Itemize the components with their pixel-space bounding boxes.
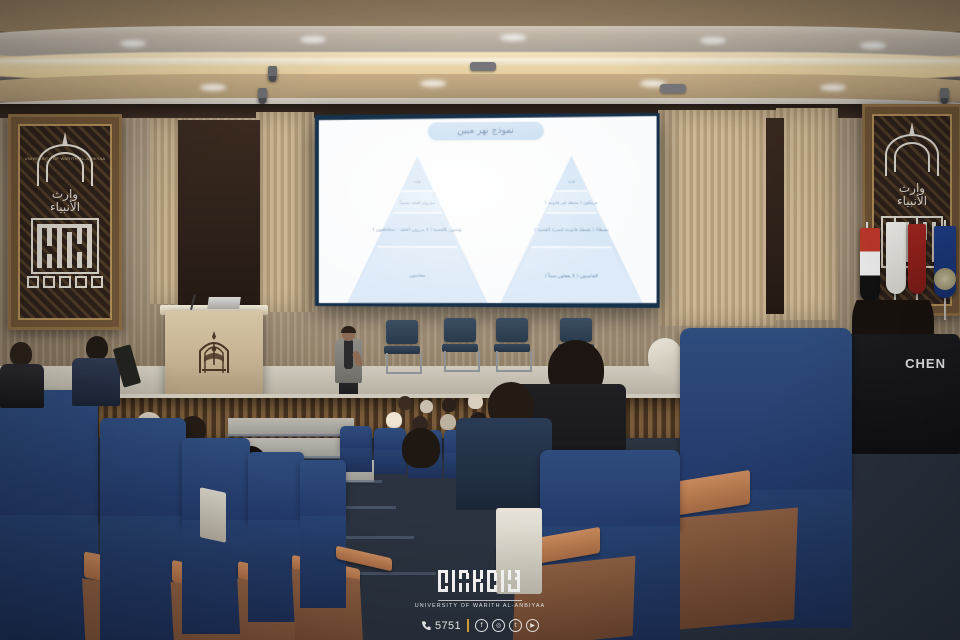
ceiling-camera (258, 88, 267, 102)
audience-head (440, 414, 456, 430)
facebook-icon[interactable]: f (475, 619, 488, 632)
watermark-organization: UNIVERSITY OF WARITH AL-ANBIYAA (415, 603, 545, 609)
slide-title: نموذج نهر مبين (427, 122, 544, 141)
wall-wood-panel-far-right (776, 108, 838, 320)
white-flag (886, 222, 906, 294)
ceiling-speaker (660, 84, 686, 93)
instagram-icon[interactable]: ◎ (492, 619, 505, 632)
audience-head (420, 400, 433, 413)
lecture-hall-photo: UNIVERSITY OF WARITH AL-ANBIYAA وارث الأ… (0, 0, 960, 640)
presentation-slide: نموذج نهر مبين قادة مبررون العنف نف (318, 116, 657, 305)
ceiling-camera (940, 88, 949, 102)
wall-dark-right (766, 118, 784, 314)
person-torso (72, 358, 120, 406)
audience-head-hijab (648, 338, 682, 374)
ceiling-projector (268, 66, 277, 80)
kufic-logo-icon (31, 218, 99, 274)
twitter-icon[interactable]: t (509, 619, 522, 632)
watermark-phone-number: 5751 (435, 620, 461, 632)
blue-flag (934, 226, 956, 298)
red-flag (908, 224, 926, 294)
wall-dark-left (178, 120, 260, 308)
warith-al-anbiyaa-kufic-logo-icon (436, 567, 524, 597)
ceiling-speaker (470, 62, 496, 71)
left-pyramid-tier-3: يؤمنون بالقضية ( لا يبررون العنف - متعاط… (345, 215, 490, 246)
audience-head (402, 428, 440, 468)
audience-head (386, 412, 402, 428)
person-torso (0, 364, 44, 408)
watermark-divider (467, 619, 469, 632)
wall-art-caption: UNIVERSITY OF WARITH AL-ANBIYAA (25, 156, 106, 161)
audience-head (468, 394, 483, 409)
person-head (10, 342, 32, 366)
wall-art-arabic-left: وارث الأنبياء (43, 188, 88, 213)
wall-art-arabic-right: وارث الأنبياء (893, 182, 931, 207)
wall-wood-panel-right (658, 110, 776, 326)
audience-torso (456, 418, 552, 510)
watermark-logo: UNIVERSITY OF WARITH AL-ANBIYAA (415, 567, 545, 609)
audience-head (398, 396, 412, 410)
left-pyramid-tier-2: مبررون العنف نفسياً (345, 193, 490, 212)
person-head (86, 336, 108, 360)
bag-in-aisle (200, 487, 226, 543)
left-pyramid: قادة مبررون العنف نفسياً يؤمنون بالقضية … (345, 156, 490, 305)
phone-icon (421, 620, 432, 631)
left-pyramid-tier-1: قادة (345, 174, 490, 190)
left-pyramid-tier-4: محايدون (345, 252, 490, 302)
audience-head (442, 398, 456, 412)
youtube-icon[interactable]: ▶ (526, 619, 539, 632)
ceiling (0, 0, 960, 112)
wall-wood-panel-left (256, 112, 314, 312)
iraq-flag (860, 228, 880, 302)
watermark-contact: 5751 f ◎ t ▶ (0, 619, 960, 632)
projection-screen: نموذج نهر مبين قادة مبررون العنف نف (315, 113, 660, 308)
wall-art-panel-left: UNIVERSITY OF WARITH AL-ANBIYAA وارث الأ… (8, 114, 122, 330)
watermark: UNIVERSITY OF WARITH AL-ANBIYAA 5751 f ◎… (0, 567, 960, 632)
watermark-phone: 5751 (421, 620, 461, 632)
watermark-social-icons: f ◎ t ▶ (475, 619, 539, 632)
